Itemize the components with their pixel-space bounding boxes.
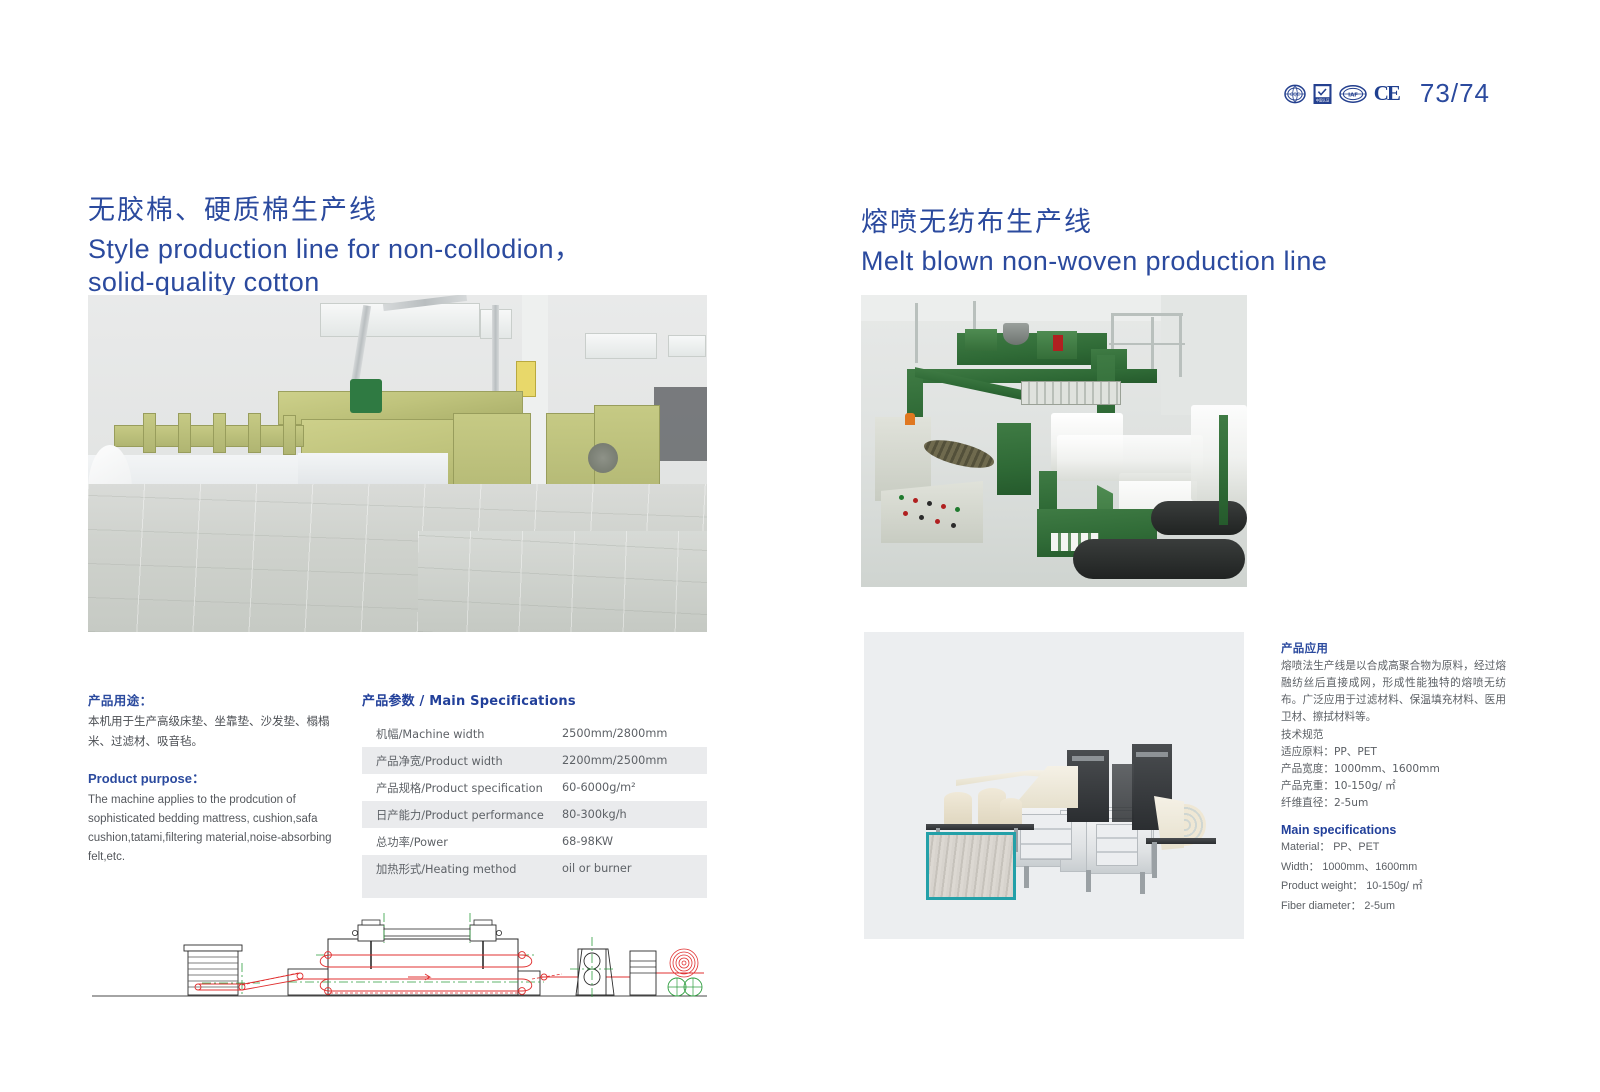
melt-blown-machine-product-photo <box>864 632 1244 939</box>
tech-spec-label-cn: 技术规范 <box>1281 727 1506 744</box>
svg-text:中国认证: 中国认证 <box>1315 97 1329 102</box>
specifications-section: 产品参数 / Main Specifications 机幅/Machine wi… <box>362 690 707 898</box>
production-line-schematic <box>92 893 707 1008</box>
specs-key: 加热形式/Heating method <box>362 855 552 882</box>
specs-key: 产品净宽/Product width <box>362 747 552 774</box>
left-title-en: Style production line for non-collodion，… <box>88 233 713 300</box>
tech-spec-line-cn: 纤维直径：2-5um <box>1281 795 1506 812</box>
specs-key: 总功率/Power <box>362 828 552 855</box>
specs-key: 产品规格/Product specification <box>362 774 552 801</box>
ce-mark-icon: CE <box>1374 83 1399 104</box>
left-title-en-line1: Style production line for non-collodion， <box>88 233 713 266</box>
page-number: 73/74 <box>1420 78 1490 109</box>
specs-value: oil or burner <box>552 855 707 882</box>
purpose-body-en: The machine applies to the prodcution of… <box>88 791 346 867</box>
tech-spec-line-en: Width： 1000mm、1600mm <box>1281 859 1506 876</box>
purpose-body-cn: 本机用于生产高级床垫、坐靠垫、沙发垫、榻榻米、过滤材、吸音毡。 <box>88 712 346 752</box>
specs-key: 日产能力/Product performance <box>362 801 552 828</box>
page-header: CQC 中国认证 IAF CE 73/74 <box>1284 78 1490 109</box>
left-title-cn: 无胶棉、硬质棉生产线 <box>88 188 713 227</box>
specs-row: 产品规格/Product specification60-6000g/m² <box>362 774 707 801</box>
product-application-block: 产品应用 熔喷法生产线是以合成高聚合物为原料，经过熔融纺丝后直接成网，形成性能独… <box>1281 640 1506 915</box>
tech-spec-line-cn: 产品宽度：1000mm、1600mm <box>1281 761 1506 778</box>
melt-blown-line-photo <box>861 295 1247 587</box>
fabric-swatch-inset <box>926 832 1016 900</box>
tech-spec-line-en: Material： PP、PET <box>1281 839 1506 856</box>
svg-text:CQC: CQC <box>1290 92 1300 98</box>
specs-row: 产品净宽/Product width2200mm/2500mm <box>362 747 707 774</box>
specs-value: 60-6000g/m² <box>552 774 707 801</box>
specs-value: 2500mm/2800mm <box>552 720 707 747</box>
right-title-cn: 熔喷无纺布生产线 <box>861 200 1501 239</box>
right-title-en: Melt blown non-woven production line <box>861 245 1501 278</box>
specs-row: 机幅/Machine width2500mm/2800mm <box>362 720 707 747</box>
svg-text:IAF: IAF <box>1348 92 1358 98</box>
tech-spec-line-en: Product weight： 10-150g/ ㎡ <box>1281 878 1506 895</box>
quality-mark-icon: 中国认证 <box>1313 83 1332 105</box>
purpose-heading-cn: 产品用途： <box>88 690 346 709</box>
specs-table: 机幅/Machine width2500mm/2800mm产品净宽/Produc… <box>362 720 707 898</box>
tech-spec-line-cn: 适应原料：PP、PET <box>1281 744 1506 761</box>
application-heading-en: Main specifications <box>1281 823 1506 837</box>
iaf-seal-icon: IAF <box>1339 84 1367 104</box>
specs-title: 产品参数 / Main Specifications <box>362 690 707 709</box>
application-body-cn: 熔喷法生产线是以合成高聚合物为原料，经过熔融纺丝后直接成网，形成性能独特的熔喷无… <box>1281 658 1506 727</box>
tech-spec-list-cn: 适应原料：PP、PET产品宽度：1000mm、1600mm产品克重：10-150… <box>1281 744 1506 813</box>
purpose-heading-en: Product purpose： <box>88 768 346 787</box>
application-heading-cn: 产品应用 <box>1281 640 1506 656</box>
tech-spec-list-en: Material： PP、PETWidth： 1000mm、1600mmProd… <box>1281 839 1506 915</box>
specs-value: 68-98KW <box>552 828 707 855</box>
catalog-page: CQC 中国认证 IAF CE 73/74 无胶棉、硬质棉生产线 <box>0 0 1600 1092</box>
iso-seal-icon: CQC <box>1284 83 1306 105</box>
specs-value: 2200mm/2500mm <box>552 747 707 774</box>
specs-key: 机幅/Machine width <box>362 720 552 747</box>
specs-row: 日产能力/Product performance80-300kg/h <box>362 801 707 828</box>
product-purpose-block: 产品用途： 本机用于生产高级床垫、坐靠垫、沙发垫、榻榻米、过滤材、吸音毡。 Pr… <box>88 690 346 867</box>
specs-value: 80-300kg/h <box>552 801 707 828</box>
cotton-line-photo <box>88 295 707 632</box>
specs-row: 总功率/Power68-98KW <box>362 828 707 855</box>
specs-row: 加热形式/Heating methodoil or burner <box>362 855 707 882</box>
tech-spec-line-en: Fiber diameter： 2-5um <box>1281 898 1506 915</box>
tech-spec-line-cn: 产品克重：10-150g/ ㎡ <box>1281 778 1506 795</box>
